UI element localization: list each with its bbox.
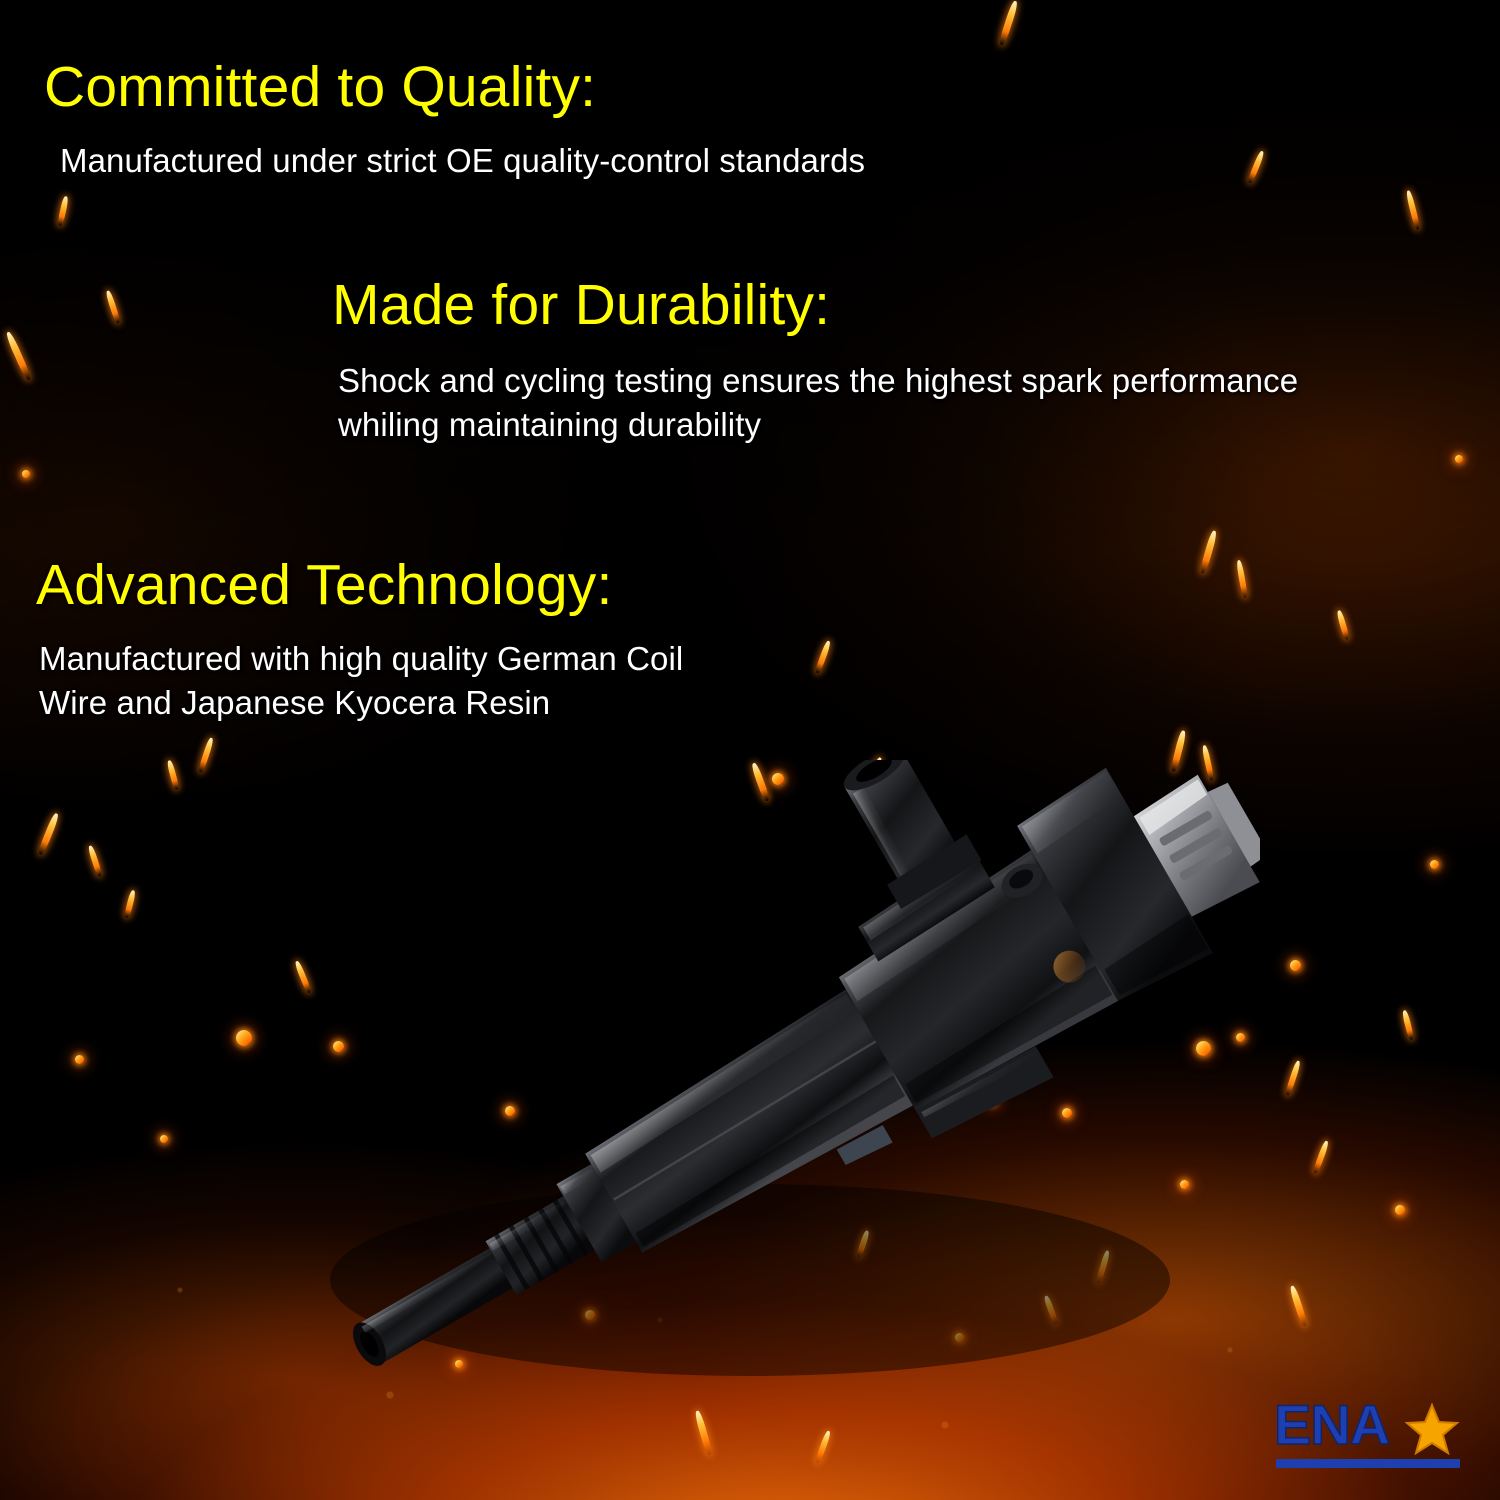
brand-logo-text: ENA: [1274, 1392, 1389, 1457]
feature-body-3-line-1: Manufactured with high quality German Co…: [39, 637, 683, 681]
feature-heading-2: Made for Durability:: [332, 276, 1298, 335]
feature-block-advanced-technology: Advanced Technology: Manufactured with h…: [36, 556, 683, 725]
feature-block-committed-to-quality: Committed to Quality: Manufactured under…: [44, 58, 865, 183]
feature-heading-1: Committed to Quality:: [44, 58, 865, 117]
star-icon: [1404, 1402, 1460, 1463]
feature-body-3-line-2: Wire and Japanese Kyocera Resin: [39, 681, 683, 725]
feature-heading-3: Advanced Technology:: [36, 556, 683, 615]
product-feature-banner: Committed to Quality: Manufactured under…: [0, 0, 1500, 1500]
brand-logo: ENA: [1274, 1386, 1464, 1472]
feature-body-2: Shock and cycling testing ensures the hi…: [338, 359, 1298, 447]
feature-block-made-for-durability: Made for Durability: Shock and cycling t…: [332, 276, 1298, 447]
feature-body-3: Manufactured with high quality German Co…: [39, 637, 683, 725]
feature-body-2-line-1: Shock and cycling testing ensures the hi…: [338, 359, 1298, 403]
feature-body-1: Manufactured under strict OE quality-con…: [60, 139, 865, 183]
brand-logo-underline: [1276, 1459, 1460, 1468]
product-image-ignition-coil: [190, 760, 1260, 1460]
feature-body-2-line-2: whiling maintaining durability: [338, 403, 1298, 447]
feature-body-1-line-1: Manufactured under strict OE quality-con…: [60, 139, 865, 183]
ignition-coil-illustration: [190, 760, 1260, 1460]
